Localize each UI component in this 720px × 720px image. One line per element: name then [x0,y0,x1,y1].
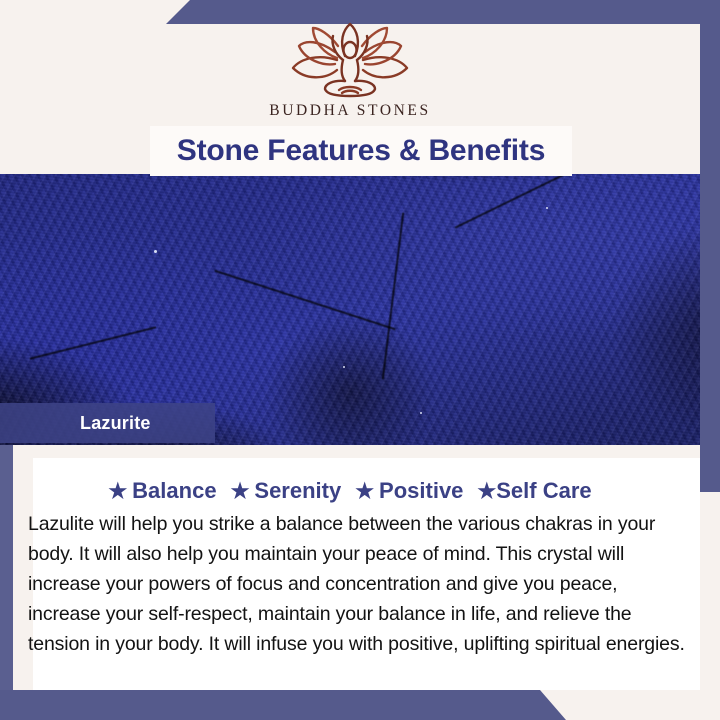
title-plate: Stone Features & Benefits [150,126,572,176]
stone-benefits-poster: BUDDHA STONES Stone Features & Benefits … [0,0,720,720]
stone-name-tag: Lazurite [0,403,215,443]
benefit-label: Self Care [496,478,591,504]
star-icon: ★ [231,481,250,502]
benefit-item-self-care: ★ Self Care [477,478,591,504]
star-icon: ★ [108,481,127,502]
star-icon: ★ [355,481,374,502]
benefit-label: Serenity [254,478,341,504]
stone-name-label: Lazurite [0,413,151,434]
right-decorative-strip [700,0,720,492]
benefit-item-positive: ★ Positive [355,478,463,504]
stone-speck [546,207,548,209]
star-icon: ★ [477,481,496,502]
benefit-label: Positive [379,478,463,504]
brand-name: BUDDHA STONES [269,102,430,120]
stone-speck [154,250,157,253]
lotus-meditation-icon [275,20,425,100]
stone-description: Lazulite will help you strike a balance … [28,509,688,659]
brand-header: BUDDHA STONES [0,20,700,130]
benefits-row: ★ Balance ★ Serenity ★ Positive ★ Self C… [0,478,700,504]
benefit-item-serenity: ★ Serenity [231,478,342,504]
page-title: Stone Features & Benefits [177,134,545,168]
benefit-label: Balance [132,478,216,504]
benefit-item-balance: ★ Balance [108,478,216,504]
